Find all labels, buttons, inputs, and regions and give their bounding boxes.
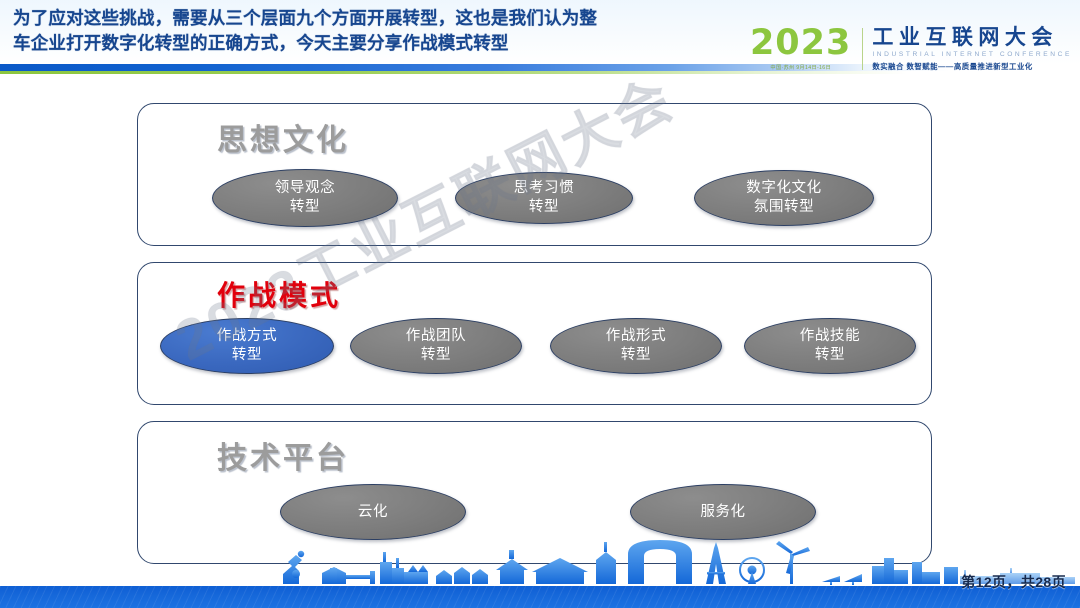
item-label-line-1: 云化: [358, 503, 388, 522]
item-label-line-2: 转型: [621, 346, 651, 365]
item-label-line-1: 服务化: [700, 503, 745, 522]
footer-band: [0, 586, 1080, 608]
logo-year: 2023: [750, 26, 851, 60]
logo-date-location: 中国·苏州 9月14日-16日: [752, 63, 849, 71]
page-title: 为了应对这些挑战，需要从三个层面九个方面开展转型，这也是我们认为整 车企业打开数…: [13, 6, 673, 56]
item-label-line-2: 转型: [290, 198, 320, 217]
transformation-item[interactable]: 作战形式转型: [550, 318, 722, 374]
slide-canvas: 为了应对这些挑战，需要从三个层面九个方面开展转型，这也是我们认为整 车企业打开数…: [0, 0, 1080, 608]
item-label-line-1: 领导观念: [275, 179, 335, 198]
transformation-item[interactable]: 作战团队转型: [350, 318, 522, 374]
page-number: 第12页，共28页: [961, 572, 1066, 592]
logo-name-cn: 工业互联网大会: [872, 26, 1072, 49]
transformation-item[interactable]: 云化: [280, 484, 466, 540]
item-label-line-1: 数字化文化: [746, 179, 822, 198]
transformation-item[interactable]: 思考习惯转型: [455, 172, 633, 224]
item-label-line-1: 作战技能: [800, 327, 860, 346]
page-title-line-2: 车企业打开数字化转型的正确方式，今天主要分享作战模式转型: [13, 31, 673, 56]
item-label-line-1: 思考习惯: [514, 179, 574, 198]
layer-card-1[interactable]: 作战模式作战方式转型作战团队转型作战形式转型作战技能转型: [137, 262, 932, 405]
item-label-line-1: 作战团队: [406, 327, 466, 346]
logo-divider-rule: [862, 28, 863, 70]
item-label-line-1: 作战方式: [217, 327, 277, 346]
page-title-line-1: 为了应对这些挑战，需要从三个层面九个方面开展转型，这也是我们认为整: [13, 6, 673, 31]
item-label-line-2: 转型: [421, 346, 451, 365]
layer-card-0[interactable]: 思想文化领导观念转型思考习惯转型数字化文化氛围转型: [137, 103, 932, 246]
transformation-item[interactable]: 领导观念转型: [212, 169, 398, 227]
transformation-item-active[interactable]: 作战方式转型: [160, 318, 334, 374]
logo-slogan: 数实融合 数智赋能——高质量推进新型工业化: [872, 61, 1072, 72]
layer-title: 作战模式: [217, 274, 341, 314]
logo-year-block: 2023 中国·苏州 9月14日-16日: [750, 26, 862, 71]
transformation-item[interactable]: 作战技能转型: [744, 318, 916, 374]
conference-logo: 2023 中国·苏州 9月14日-16日 工业互联网大会 INDUSTRIAL …: [750, 26, 1072, 72]
item-label-line-1: 作战形式: [606, 327, 666, 346]
item-label-line-2: 转型: [232, 346, 262, 365]
item-label-line-2: 氛围转型: [754, 198, 814, 217]
layer-title: 技术平台: [217, 433, 349, 477]
transformation-item[interactable]: 服务化: [630, 484, 816, 540]
layer-title: 思想文化: [217, 115, 349, 159]
slide-header: 为了应对这些挑战，需要从三个层面九个方面开展转型，这也是我们认为整 车企业打开数…: [0, 0, 1080, 88]
item-label-line-2: 转型: [815, 346, 845, 365]
item-label-line-2: 转型: [529, 198, 559, 217]
layer-card-2[interactable]: 技术平台云化服务化: [137, 421, 932, 564]
logo-name-block: 工业互联网大会 INDUSTRIAL INTERNET CONFERENCE 数…: [872, 26, 1072, 72]
transformation-item[interactable]: 数字化文化氛围转型: [694, 170, 874, 226]
logo-name-en: INDUSTRIAL INTERNET CONFERENCE: [872, 50, 1072, 60]
